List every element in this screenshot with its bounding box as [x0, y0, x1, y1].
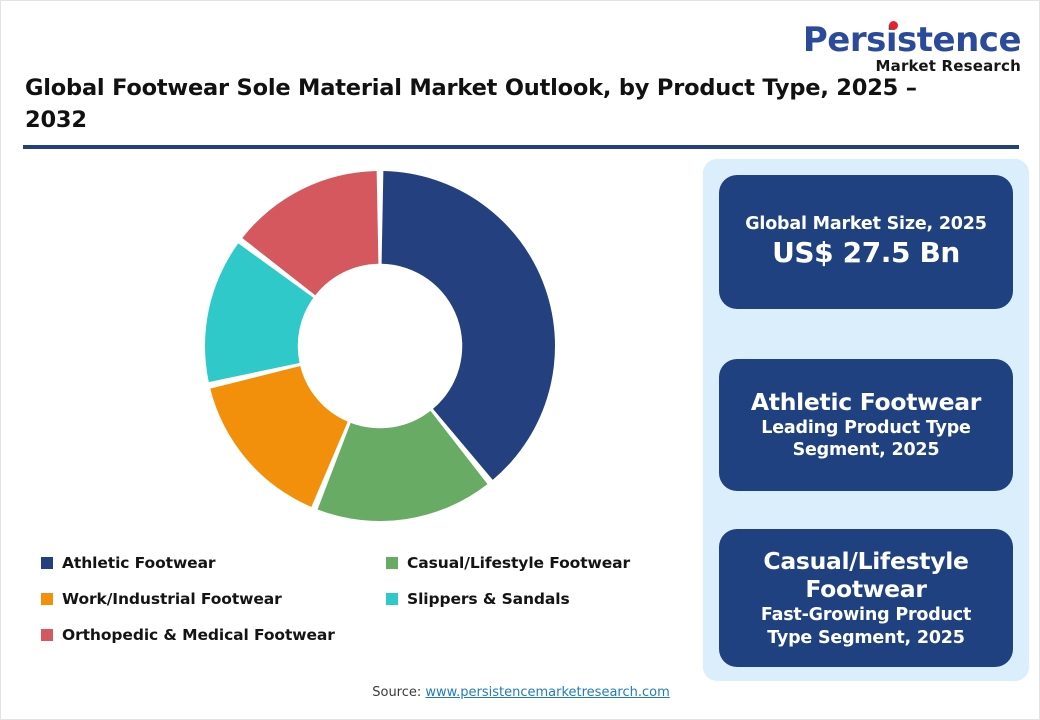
- card-line: Athletic Footwear: [719, 388, 1013, 417]
- card-line: Type Segment, 2025: [719, 627, 1013, 650]
- brand-subtitle: Market Research: [791, 59, 1021, 74]
- legend-item[interactable]: Orthopedic & Medical Footwear: [41, 626, 386, 644]
- legend-item[interactable]: Slippers & Sandals: [386, 590, 681, 608]
- legend-item[interactable]: Athletic Footwear: [41, 554, 386, 572]
- legend-swatch-icon: [41, 557, 53, 569]
- highlights-panel: Global Market Size, 2025US$ 27.5 BnAthle…: [703, 159, 1029, 681]
- infographic-page: Persistence Market Research Global Footw…: [0, 0, 1040, 720]
- legend-item-label: Orthopedic & Medical Footwear: [62, 626, 335, 644]
- card-line: Global Market Size, 2025: [719, 213, 1013, 236]
- card-line: Leading Product Type: [719, 417, 1013, 440]
- source-footer: Source: www.persistencemarketresearch.co…: [1, 685, 1040, 700]
- donut-chart: [195, 171, 565, 541]
- legend-swatch-icon: [386, 557, 398, 569]
- legend-item[interactable]: Work/Industrial Footwear: [41, 590, 386, 608]
- highlight-card-fast-growing-segment[interactable]: Casual/LifestyleFootwearFast-Growing Pro…: [719, 529, 1013, 667]
- highlight-card-leading-segment[interactable]: Athletic FootwearLeading Product TypeSeg…: [719, 359, 1013, 491]
- page-title: Global Footwear Sole Material Market Out…: [25, 73, 925, 137]
- legend-swatch-icon: [41, 629, 53, 641]
- card-line: Footwear: [719, 575, 1013, 604]
- chart-legend: Athletic FootwearCasual/Lifestyle Footwe…: [41, 545, 681, 653]
- legend-item-label: Work/Industrial Footwear: [62, 590, 282, 608]
- brand-logo: Persistence Market Research: [791, 23, 1021, 79]
- legend-item-label: Casual/Lifestyle Footwear: [407, 554, 630, 572]
- legend-item-label: Athletic Footwear: [62, 554, 215, 572]
- highlight-card-global-market-size[interactable]: Global Market Size, 2025US$ 27.5 Bn: [719, 175, 1013, 309]
- source-link[interactable]: www.persistencemarketresearch.com: [425, 685, 669, 700]
- card-line: Segment, 2025: [719, 439, 1013, 462]
- card-line: US$ 27.5 Bn: [719, 235, 1013, 271]
- chart-area: [15, 153, 691, 553]
- title-divider: [23, 145, 1019, 149]
- brand-name: Persistence: [803, 23, 1021, 57]
- source-prefix: Source:: [372, 685, 425, 700]
- legend-swatch-icon: [41, 593, 53, 605]
- legend-item[interactable]: Casual/Lifestyle Footwear: [386, 554, 681, 572]
- logo-dot-icon: [889, 21, 898, 30]
- legend-item-label: Slippers & Sandals: [407, 590, 570, 608]
- card-line: Casual/Lifestyle: [719, 547, 1013, 576]
- legend-swatch-icon: [386, 593, 398, 605]
- donut-slice-group: [205, 171, 555, 521]
- card-line: Fast-Growing Product: [719, 604, 1013, 627]
- brand-name-text: Persistence: [803, 20, 1021, 60]
